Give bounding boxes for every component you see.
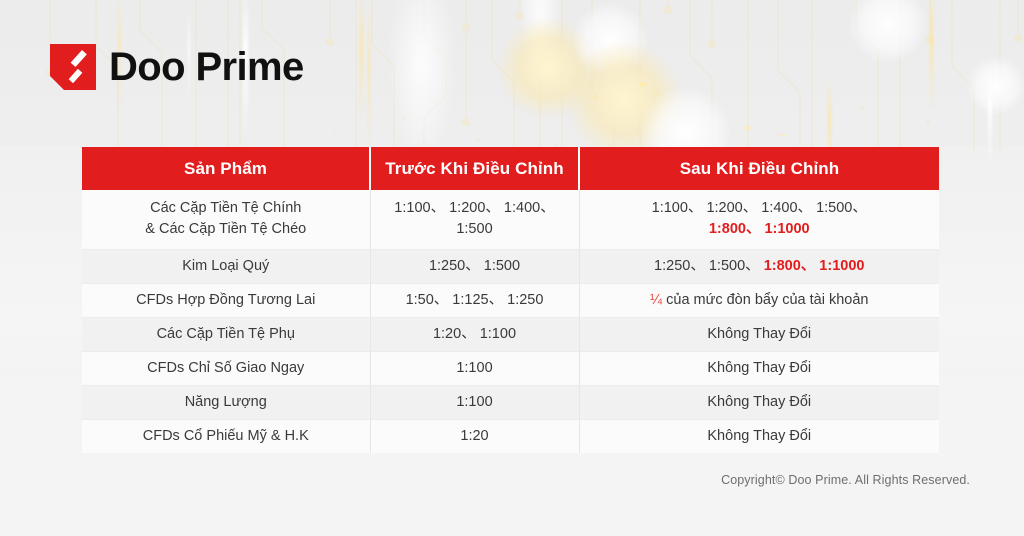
table-row: Các Cặp Tiền Tệ Chính & Các Cặp Tiền Tệ … — [82, 190, 939, 249]
cell-before: 1:20 — [370, 419, 579, 453]
cell-after: Không Thay Đổi — [579, 419, 939, 453]
cell-before: 1:250、 1:500 — [370, 249, 579, 283]
column-header-product: Sản Phẩm — [82, 147, 370, 190]
cell-product: CFDs Chỉ Số Giao Ngay — [82, 351, 370, 385]
spark-decoration — [654, 92, 657, 95]
after-value-fraction: ¼ — [650, 292, 662, 308]
cell-after: Không Thay Đổi — [579, 385, 939, 419]
table-header-row: Sản Phẩm Trước Khi Điều Chỉnh Sau Khi Đi… — [82, 147, 939, 190]
light-streak-decoration — [360, 0, 363, 120]
cell-after: ¼ của mức đòn bẩy của tài khoản — [579, 283, 939, 317]
spark-decoration — [782, 134, 785, 137]
leverage-adjustment-table: Sản Phẩm Trước Khi Điều Chỉnh Sau Khi Đi… — [82, 147, 939, 453]
copyright-notice: Copyright© Doo Prime. All Rights Reserve… — [721, 473, 970, 487]
table-row: CFDs Cổ Phiếu Mỹ & H.K 1:20 Không Thay Đ… — [82, 419, 939, 453]
cell-product: CFDs Cổ Phiếu Mỹ & H.K — [82, 419, 370, 453]
cell-before: 1:50、 1:125、 1:250 — [370, 283, 579, 317]
cell-product: CFDs Hợp Đồng Tương Lai — [82, 283, 370, 317]
table-row: Các Cặp Tiền Tệ Phụ 1:20、 1:100 Không Th… — [82, 317, 939, 351]
after-value-highlight: 1:800、 1:1000 — [709, 221, 810, 237]
spark-decoration — [746, 126, 750, 130]
cell-product: Các Cặp Tiền Tệ Phụ — [82, 317, 370, 351]
cell-before: 1:100 — [370, 351, 579, 385]
bokeh-orb-decoration — [966, 56, 1024, 116]
light-beam-decoration — [390, 0, 454, 160]
light-streak-decoration — [930, 0, 933, 110]
cell-product: Kim Loại Quý — [82, 249, 370, 283]
cell-after: Không Thay Đổi — [579, 317, 939, 351]
table-row: CFDs Hợp Đồng Tương Lai 1:50、 1:125、 1:2… — [82, 283, 939, 317]
doo-prime-logo-mark-icon — [50, 44, 96, 90]
cell-before: 1:20、 1:100 — [370, 317, 579, 351]
after-value-plain: 1:100、 1:200、 1:400、 1:500、 — [652, 200, 867, 216]
cell-product: Các Cặp Tiền Tệ Chính & Các Cặp Tiền Tệ … — [82, 190, 370, 249]
column-header-after-adjustment: Sau Khi Điều Chỉnh — [579, 147, 939, 190]
after-value-highlight: 1:800、 1:1000 — [764, 258, 865, 274]
light-streak-decoration — [988, 62, 992, 172]
cell-after: Không Thay Đổi — [579, 351, 939, 385]
cell-after: 1:250、 1:500、 1:800、 1:1000 — [579, 249, 939, 283]
table-row: CFDs Chỉ Số Giao Ngay 1:100 Không Thay Đ… — [82, 351, 939, 385]
product-label-line1: Các Cặp Tiền Tệ Chính — [150, 200, 301, 216]
cell-product: Năng Lượng — [82, 385, 370, 419]
before-value-line2: 1:500 — [456, 221, 492, 237]
after-value-plain: của mức đòn bẩy của tài khoản — [666, 292, 868, 308]
brand-name: Doo Prime — [109, 47, 304, 87]
brand-logo[interactable]: Doo Prime — [50, 44, 304, 90]
table-row: Năng Lượng 1:100 Không Thay Đổi — [82, 385, 939, 419]
spark-decoration — [640, 82, 645, 87]
cell-before: 1:100 — [370, 385, 579, 419]
cell-before: 1:100、 1:200、 1:400、 1:500 — [370, 190, 579, 249]
table-header: Sản Phẩm Trước Khi Điều Chỉnh Sau Khi Đi… — [82, 147, 939, 190]
cell-after: 1:100、 1:200、 1:400、 1:500、 1:800、 1:100… — [579, 190, 939, 249]
light-streak-decoration — [368, 0, 370, 148]
before-value-line1: 1:100、 1:200、 1:400、 — [394, 200, 554, 216]
after-value-plain: 1:250、 1:500、 — [654, 258, 760, 274]
table-row: Kim Loại Quý 1:250、 1:500 1:250、 1:500、 … — [82, 249, 939, 283]
leverage-table-container: Sản Phẩm Trước Khi Điều Chỉnh Sau Khi Đi… — [82, 147, 939, 453]
table-body: Các Cặp Tiền Tệ Chính & Các Cặp Tiền Tệ … — [82, 190, 939, 453]
product-label-line2: & Các Cặp Tiền Tệ Chéo — [145, 221, 306, 237]
column-header-before-adjustment: Trước Khi Điều Chỉnh — [370, 147, 579, 190]
